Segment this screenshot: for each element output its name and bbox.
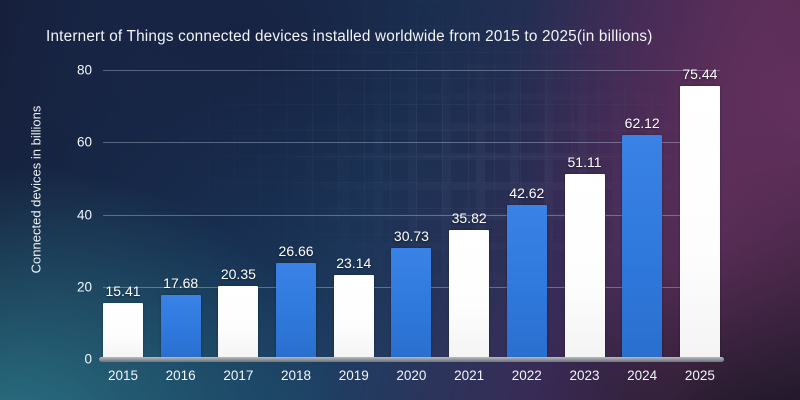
bar-value-label: 23.14: [336, 255, 371, 271]
chart-title: Internert of Things connected devices in…: [46, 28, 776, 46]
bar-value-label: 20.35: [221, 266, 256, 282]
bar-group[interactable]: 75.44: [680, 70, 720, 359]
x-axis-ticks: 2015201620172018201920202021202220232024…: [103, 368, 720, 383]
bar-group[interactable]: 20.35: [218, 70, 258, 359]
bar[interactable]: [507, 205, 547, 359]
bar-value-label: 51.11: [568, 154, 602, 170]
x-axis-tick-label: 2021: [449, 368, 489, 383]
x-axis-tick-label: 2023: [565, 368, 605, 383]
bar-group[interactable]: 62.12: [622, 70, 662, 359]
bar[interactable]: [103, 303, 143, 359]
bar-group[interactable]: 26.66: [276, 70, 316, 359]
y-axis-tick-label: 60: [77, 135, 92, 150]
x-axis-tick-label: 2015: [103, 368, 143, 383]
bar[interactable]: [218, 286, 258, 360]
bar-value-label: 26.66: [279, 243, 314, 259]
x-axis-tick-label: 2022: [507, 368, 547, 383]
y-axis-label: Connected devices in billions: [29, 80, 44, 300]
bar-group[interactable]: 30.73: [391, 70, 431, 359]
x-axis-tick-label: 2019: [334, 368, 374, 383]
plot-area: 020406080 15.4117.6820.3526.6623.1430.73…: [103, 70, 720, 359]
bar-group[interactable]: 23.14: [334, 70, 374, 359]
x-axis-tick-label: 2024: [622, 368, 662, 383]
bar-group[interactable]: 35.82: [449, 70, 489, 359]
bar[interactable]: [680, 86, 720, 359]
bar[interactable]: [565, 174, 605, 359]
bar-value-label: 35.82: [452, 210, 487, 226]
y-axis-tick-label: 20: [77, 279, 92, 294]
bar-group[interactable]: 42.62: [507, 70, 547, 359]
x-axis-tick-label: 2018: [276, 368, 316, 383]
bar[interactable]: [622, 135, 662, 359]
bar[interactable]: [391, 248, 431, 359]
bar-group[interactable]: 51.11: [565, 70, 605, 359]
bar[interactable]: [276, 263, 316, 359]
x-axis-tick-label: 2016: [161, 368, 201, 383]
bar[interactable]: [334, 275, 374, 359]
y-axis-tick-label: 40: [77, 207, 92, 222]
bar[interactable]: [449, 230, 489, 359]
x-axis-tick-label: 2020: [391, 368, 431, 383]
y-axis-tick-label: 0: [84, 352, 92, 367]
bar-value-label: 17.68: [163, 275, 198, 291]
bar-group[interactable]: 15.41: [103, 70, 143, 359]
bar-value-label: 75.44: [682, 66, 717, 82]
bar-value-label: 30.73: [394, 228, 429, 244]
x-axis-tick-label: 2025: [680, 368, 720, 383]
bar-value-label: 42.62: [509, 185, 544, 201]
x-axis-line: [99, 357, 724, 362]
chart-canvas: Internert of Things connected devices in…: [0, 0, 800, 400]
y-axis-tick-label: 80: [77, 63, 92, 78]
x-axis-tick-label: 2017: [218, 368, 258, 383]
bar[interactable]: [161, 295, 201, 359]
bar-value-label: 62.12: [625, 115, 660, 131]
bar-group[interactable]: 17.68: [161, 70, 201, 359]
bar-value-label: 15.41: [105, 283, 140, 299]
bar-series: 15.4117.6820.3526.6623.1430.7335.8242.62…: [103, 70, 720, 359]
